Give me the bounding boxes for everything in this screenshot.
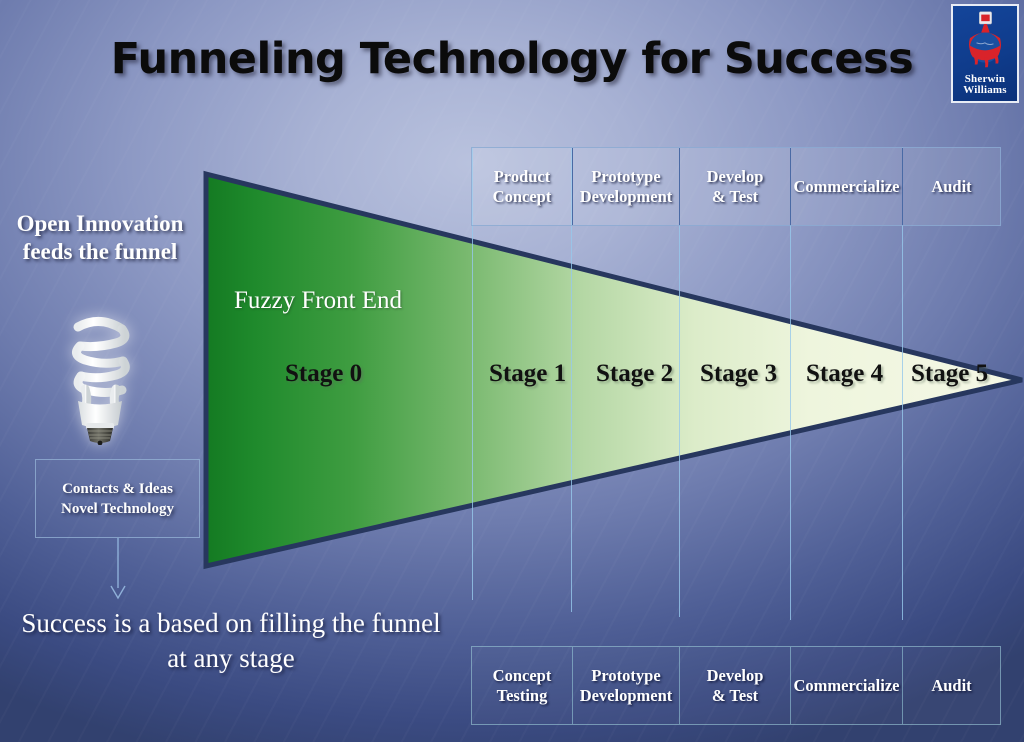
stage-label-5: Stage 5 [911,360,988,388]
bottom-cell-5[interactable]: Audit [903,647,1000,724]
top-cell-1-line2: Concept [493,187,552,207]
top-cell-4-line1: Commercialize [794,177,900,197]
sherwin-williams-logo: Sherwin Williams [951,4,1019,103]
bottom-cell-2[interactable]: Prototype Development [573,647,680,724]
cover-the-earth-icon [953,8,1017,72]
stage-label-1: Stage 1 [489,360,566,388]
contacts-ideas-box: Contacts & Ideas Novel Technology [35,459,200,538]
top-cell-4[interactable]: Commercialize [791,148,903,225]
page-title: Funneling Technology for Success [0,34,1024,84]
logo-word-line2: Williams [953,85,1017,96]
slide-canvas: Funneling Technology for Success Sherwin… [0,0,1024,742]
stage-label-2: Stage 2 [596,360,673,388]
down-arrow-icon [100,538,136,600]
stage-label-4: Stage 4 [806,360,883,388]
bottom-cell-2-line2: Development [580,686,673,706]
contacts-ideas-text: Contacts & Ideas Novel Technology [61,479,174,519]
top-cell-3[interactable]: Develop & Test [680,148,791,225]
open-innovation-caption: Open Innovation feeds the funnel [0,210,200,266]
top-cell-2-line1: Prototype [580,167,673,187]
top-cell-2[interactable]: Prototype Development [573,148,680,225]
bottom-cell-4-line1: Commercialize [794,676,900,696]
bottom-cell-1-line1: Concept [493,666,552,686]
cfl-light-bulb-icon [44,297,156,445]
contacts-ideas-line2: Novel Technology [61,499,174,519]
top-cell-1[interactable]: Product Concept [472,148,573,225]
fuzzy-front-end-label: Fuzzy Front End [234,287,402,315]
bottom-cell-4[interactable]: Commercialize [791,647,903,724]
bottom-cell-1[interactable]: Concept Testing [472,647,573,724]
top-cell-2-line2: Development [580,187,673,207]
bottom-cell-3-line1: Develop [707,666,764,686]
top-cell-5[interactable]: Audit [903,148,1000,225]
contacts-ideas-line1: Contacts & Ideas [61,479,174,499]
success-caption: Success is a based on filling the funnel… [0,606,462,676]
bottom-cell-3-line2: & Test [707,686,764,706]
bottom-cell-3[interactable]: Develop & Test [680,647,791,724]
top-cell-1-line1: Product [493,167,552,187]
stage-label-0: Stage 0 [285,360,362,388]
logo-wordmark: Sherwin Williams [953,74,1017,96]
top-cell-3-line1: Develop [707,167,764,187]
top-cell-3-line2: & Test [707,187,764,207]
bottom-cell-2-line1: Prototype [580,666,673,686]
bottom-cell-5-line1: Audit [931,676,971,696]
top-stage-gate-table: Product Concept Prototype Development De… [471,147,1001,226]
success-caption-line2: at any stage [0,641,462,676]
success-caption-line1: Success is a based on filling the funnel [0,606,462,641]
bottom-stage-gate-table: Concept Testing Prototype Development De… [471,646,1001,725]
open-innovation-line2: feeds the funnel [0,238,200,266]
bottom-cell-1-line2: Testing [493,686,552,706]
stage-label-3: Stage 3 [700,360,777,388]
top-cell-5-line1: Audit [931,177,971,197]
open-innovation-line1: Open Innovation [0,210,200,238]
